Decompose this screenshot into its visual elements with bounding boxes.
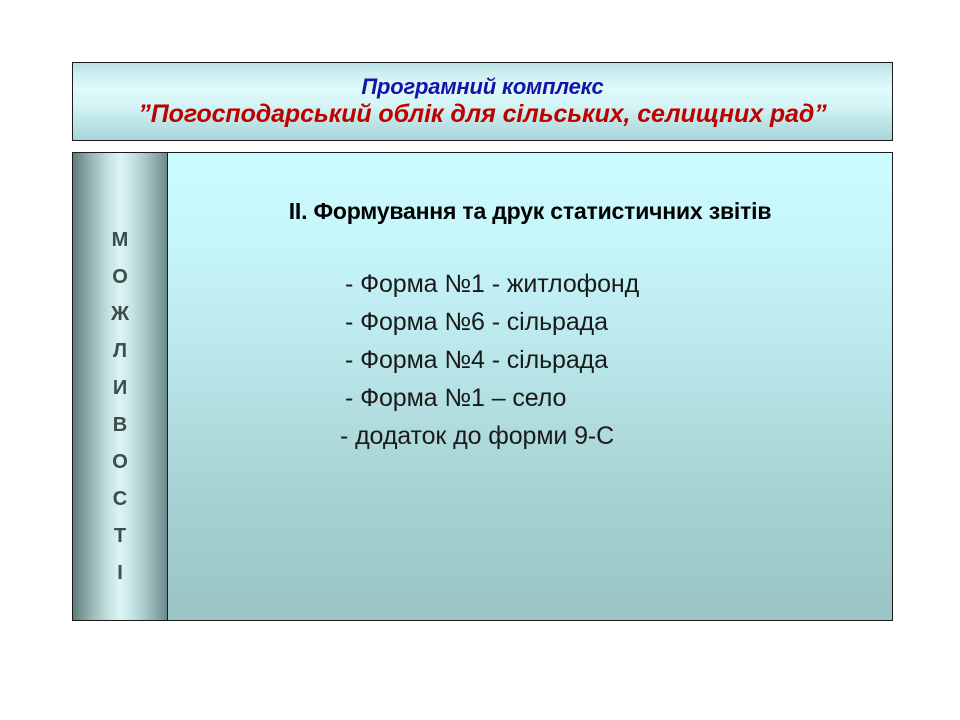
section-heading: II. Формування та друк статистичних звіт… <box>168 198 892 225</box>
sidebar-letter: О <box>73 258 167 295</box>
sidebar-letter: В <box>73 406 167 443</box>
sidebar-letter: Ж <box>73 295 167 332</box>
sidebar-letter: О <box>73 443 167 480</box>
list-item: - Форма №1 – село <box>168 379 892 417</box>
list-item-label: - Форма №6 - сільрада <box>335 303 725 341</box>
vertical-capabilities-sidebar: М О Ж Л И В О С Т І <box>73 153 168 620</box>
list-item-label: - додаток до форми 9-С <box>335 417 725 455</box>
sidebar-letter: Л <box>73 332 167 369</box>
sidebar-letter: Т <box>73 517 167 554</box>
title-banner: Програмний комплекс ”Погосподарський обл… <box>72 62 893 141</box>
sidebar-letter: И <box>73 369 167 406</box>
list-item-label: - Форма №1 – село <box>335 379 725 417</box>
sidebar-letter: М <box>73 221 167 258</box>
sidebar-letter: С <box>73 480 167 517</box>
sidebar-letter: І <box>73 554 167 591</box>
report-forms-list: - Форма №1 - житлофонд - Форма №6 - сіль… <box>168 265 892 455</box>
list-item: - додаток до форми 9-С <box>168 417 892 455</box>
program-name-title: Програмний комплекс <box>361 75 603 98</box>
list-item-label: - Форма №4 - сільрада <box>335 341 725 379</box>
slide-body-panel: М О Ж Л И В О С Т І II. Формування та др… <box>72 152 893 621</box>
slide-content-area: II. Формування та друк статистичних звіт… <box>168 153 892 620</box>
program-subtitle: ”Погосподарський облік для сільських, се… <box>138 100 826 129</box>
list-item: - Форма №1 - житлофонд <box>168 265 892 303</box>
list-item: - Форма №4 - сільрада <box>168 341 892 379</box>
list-item-label: - Форма №1 - житлофонд <box>335 265 725 303</box>
list-item: - Форма №6 - сільрада <box>168 303 892 341</box>
